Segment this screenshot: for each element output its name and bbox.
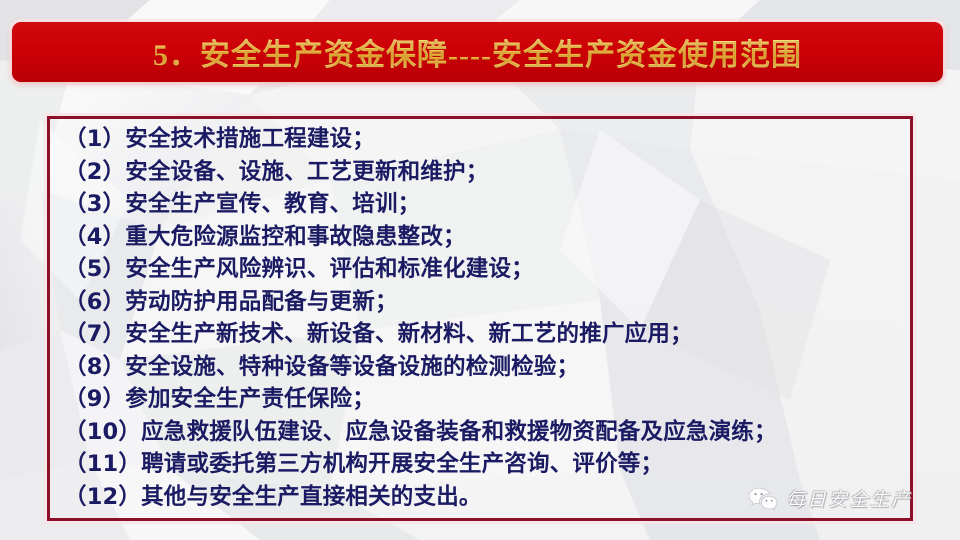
list-item: （8）安全设施、特种设备等设备设施的检测检验； — [64, 351, 904, 384]
list-item: （5）安全生产风险辨识、评估和标准化建设； — [64, 253, 904, 286]
list-item: （2）安全设备、设施、工艺更新和维护； — [64, 156, 904, 189]
page-title: 5．安全生产资金保障----安全生产资金使用范围 — [153, 30, 802, 74]
list-item: （9）参加安全生产责任保险； — [64, 383, 904, 416]
scope-list: （1）安全技术措施工程建设； （2）安全设备、设施、工艺更新和维护； （3）安全… — [64, 123, 904, 513]
list-item: （1）安全技术措施工程建设； — [64, 123, 904, 156]
list-item: （10）应急救援队伍建设、应急设备装备和救援物资配备及应急演练； — [64, 416, 904, 449]
list-item: （7）安全生产新技术、新设备、新材料、新工艺的推广应用； — [64, 318, 904, 351]
slide-title-bar: 5．安全生产资金保障----安全生产资金使用范围 — [12, 22, 943, 82]
list-item: （3）安全生产宣传、教育、培训； — [64, 188, 904, 221]
slide-canvas: 5．安全生产资金保障----安全生产资金使用范围 （1）安全技术措施工程建设； … — [0, 0, 960, 540]
list-item: （12）其他与安全生产直接相关的支出。 — [64, 481, 904, 514]
list-item: （6）劳动防护用品配备与更新； — [64, 286, 904, 319]
list-item: （4）重大危险源监控和事故隐患整改； — [64, 221, 904, 254]
list-item: （11）聘请或委托第三方机构开展安全生产咨询、评价等； — [64, 448, 904, 481]
content-box: （1）安全技术措施工程建设； （2）安全设备、设施、工艺更新和维护； （3）安全… — [47, 116, 913, 521]
